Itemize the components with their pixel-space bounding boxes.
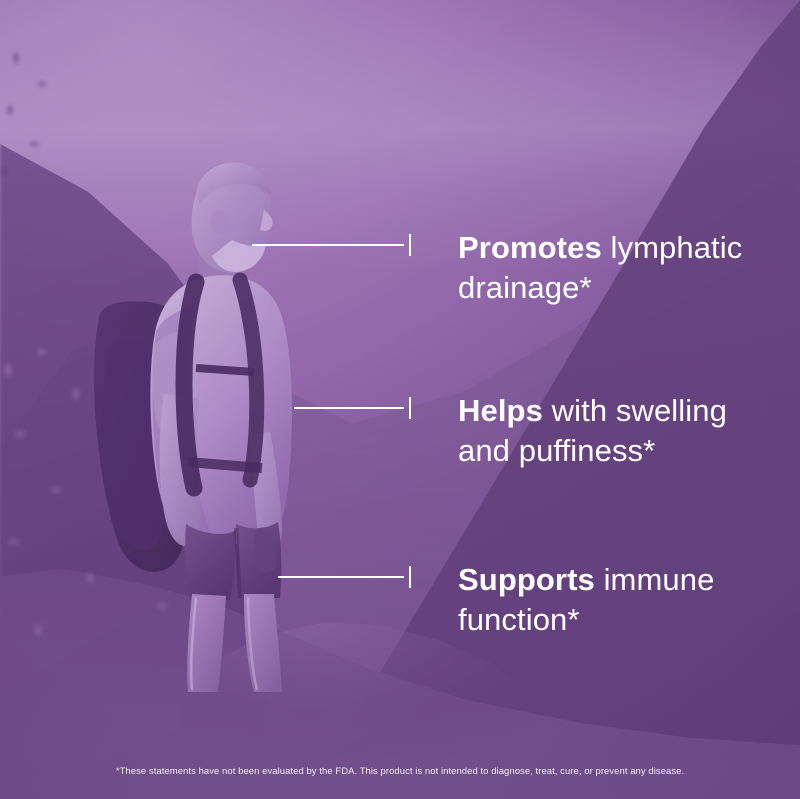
leader-line-stroke <box>252 244 404 246</box>
benefit-text-immune-function: Supports immune function* <box>458 560 778 640</box>
leader-line-endcap <box>409 566 411 588</box>
fda-disclaimer: *These statements have not been evaluate… <box>0 766 800 777</box>
leader-line-stroke <box>294 407 404 409</box>
leader-line-endcap <box>409 397 411 419</box>
benefits-promo-card: Promotes lymphatic drainage* Helps with … <box>0 0 800 799</box>
benefit-emphasis-swelling-puffiness: Helps <box>458 393 543 428</box>
leader-line-stroke <box>278 576 404 578</box>
benefit-emphasis-immune-function: Supports <box>458 562 595 597</box>
leader-line-immune-function <box>278 566 411 588</box>
benefit-text-swelling-puffiness: Helps with swelling and puffiness* <box>458 391 778 471</box>
benefit-text-lymphatic-drainage: Promotes lymphatic drainage* <box>458 228 778 308</box>
leader-line-lymphatic-drainage <box>252 234 411 256</box>
benefit-emphasis-lymphatic-drainage: Promotes <box>458 230 602 265</box>
leader-line-swelling-puffiness <box>294 397 411 419</box>
leader-line-endcap <box>409 234 411 256</box>
